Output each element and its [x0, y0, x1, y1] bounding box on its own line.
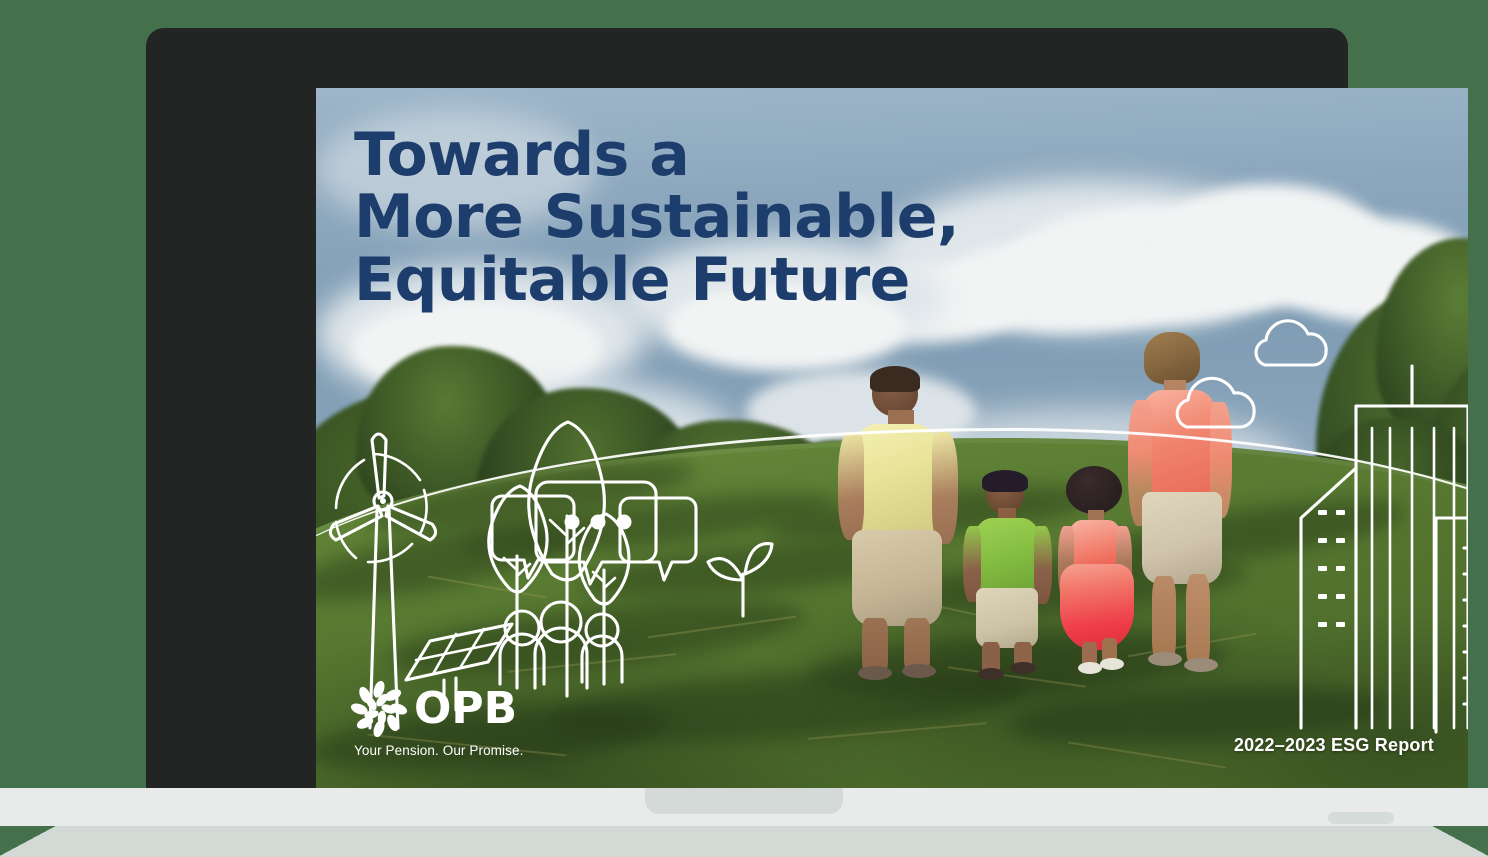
opb-leaf-rosette-icon — [350, 680, 408, 738]
figure-adult-woman — [1106, 334, 1236, 676]
laptop-frame: Towards a More Sustainable, Equitable Fu… — [146, 28, 1348, 788]
opb-wordmark: OPB — [414, 687, 517, 731]
laptop-base-front-edge — [0, 826, 1488, 857]
figure-adult-man — [836, 370, 966, 678]
laptop-screen[interactable]: Towards a More Sustainable, Equitable Fu… — [316, 88, 1468, 788]
report-label: 2022–2023 ESG Report — [1234, 735, 1434, 756]
page-title: Towards a More Sustainable, Equitable Fu… — [354, 124, 959, 311]
figure-young-boy — [962, 470, 1054, 674]
opb-logo: OPB Your Pension. Our Promise. — [350, 680, 523, 758]
opb-tagline: Your Pension. Our Promise. — [354, 743, 523, 758]
laptop-port-indicator — [1328, 812, 1394, 824]
laptop-hinge-notch — [645, 788, 843, 814]
